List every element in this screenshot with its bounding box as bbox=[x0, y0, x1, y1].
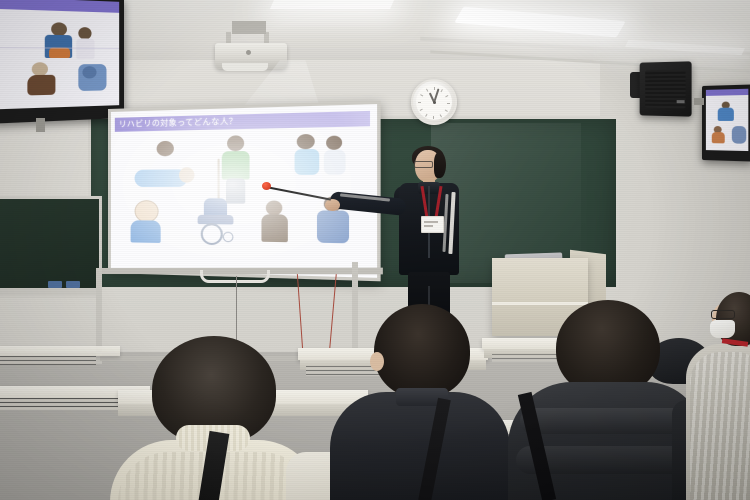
puffer-seam bbox=[520, 408, 690, 434]
projector-mount bbox=[232, 21, 266, 34]
pointer-tip-icon bbox=[262, 182, 271, 190]
speaker-badge bbox=[677, 100, 685, 103]
lecture-desk bbox=[0, 346, 120, 356]
clock-face bbox=[416, 84, 452, 120]
monitor-slide-title-bar bbox=[0, 0, 119, 13]
monitor-right-arm bbox=[694, 98, 704, 105]
clock-center-pin bbox=[433, 101, 436, 104]
monitor-left-arm bbox=[36, 118, 45, 132]
knit-texture bbox=[690, 352, 750, 500]
screen-leg-right bbox=[352, 262, 358, 362]
screen-roller-housing bbox=[200, 270, 270, 283]
face-mask-icon bbox=[710, 320, 735, 338]
desk-grill bbox=[0, 356, 96, 365]
chalk-tray bbox=[0, 288, 100, 295]
id-badge bbox=[421, 216, 444, 233]
presenter-hair-side bbox=[434, 152, 446, 178]
projector-lens bbox=[222, 63, 268, 71]
monitor-slide-title-bar bbox=[706, 89, 748, 96]
attendee-suit-jacket bbox=[330, 392, 510, 500]
glasses-icon bbox=[414, 161, 433, 168]
presenter-hand bbox=[325, 199, 340, 211]
lectern-edge bbox=[492, 302, 588, 305]
attendee-hair bbox=[374, 304, 470, 398]
projector-indicator bbox=[246, 50, 251, 55]
wall-monitor-right[interactable] bbox=[702, 84, 750, 161]
ceiling-light-2 bbox=[270, 0, 394, 9]
wall-monitor-right-screen bbox=[706, 89, 748, 151]
wall-clock bbox=[411, 79, 457, 125]
wall-monitor-left-screen bbox=[0, 0, 119, 109]
attendee-ear bbox=[370, 352, 384, 371]
wall-speaker bbox=[640, 61, 692, 116]
desk-grill bbox=[0, 398, 120, 410]
classroom-scene: リハビリの対象ってどんな人？ bbox=[0, 0, 750, 500]
eraser bbox=[66, 281, 80, 288]
eraser bbox=[48, 281, 62, 288]
wall-monitor-left[interactable] bbox=[0, 0, 124, 124]
glasses-icon bbox=[711, 310, 735, 319]
